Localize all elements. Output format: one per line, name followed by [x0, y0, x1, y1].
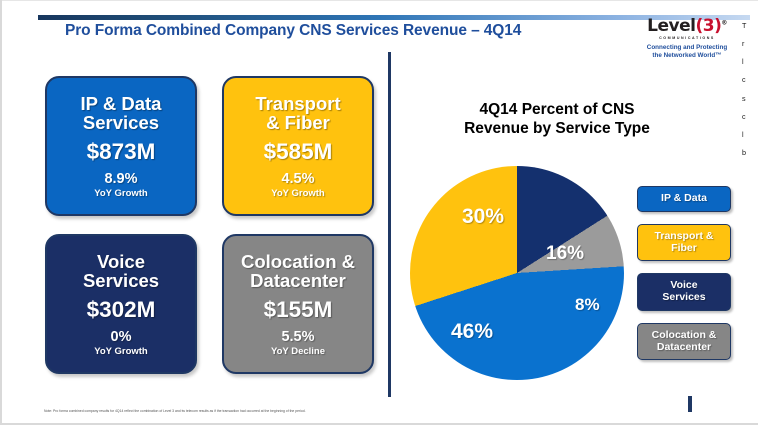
adjacent-page-text-column: T r l c s c l b [742, 20, 758, 165]
logo-subtitle: COMMUNICATIONS [641, 36, 733, 40]
pie-slice-label-transport-fiber: 30% [462, 205, 504, 229]
kpi-name-line1: Colocation & [241, 252, 355, 272]
kpi-note: YoY Growth [271, 189, 324, 199]
legend-label-line2: Fiber [641, 243, 727, 255]
legend-label-line1: IP & Data [641, 193, 727, 205]
logo-wordmark: Level(3)® [641, 18, 733, 35]
slide-canvas: Pro Forma Combined Company CNS Services … [0, 0, 758, 425]
pie-slice-label-voice: 16% [546, 243, 584, 265]
kpi-name-line2: Services [81, 113, 162, 133]
right-col-line-6: c [742, 111, 758, 122]
right-col-line-3: l [742, 56, 758, 67]
kpi-name: IP & Data Services [81, 94, 162, 133]
right-col-line-7: l [742, 129, 758, 140]
kpi-note: YoY Growth [94, 189, 147, 199]
kpi-name-line2: & Fiber [255, 113, 340, 133]
kpi-percent: 0% [111, 330, 132, 345]
legend-item-transport-fiber[interactable]: Transport & Fiber [637, 224, 731, 262]
pie-slice-label-ip-data: 46% [451, 320, 493, 344]
kpi-percent: 5.5% [281, 330, 314, 345]
pie-slice-label-colocation: 8% [575, 295, 600, 315]
vertical-divider [388, 52, 391, 397]
kpi-card-ip-data: IP & Data Services $873M 8.9% YoY Growth [45, 76, 197, 216]
right-col-line-8: b [742, 147, 758, 158]
page-title: Pro Forma Combined Company CNS Services … [65, 22, 585, 40]
legend-label-line2: Services [641, 292, 727, 304]
kpi-name-line2: Datacenter [241, 271, 355, 291]
kpi-name: Transport & Fiber [255, 94, 340, 133]
right-col-line-4: c [742, 74, 758, 85]
kpi-name-line1: Transport [255, 94, 340, 114]
logo-name-text: Level [647, 16, 695, 36]
kpi-card-colocation-datacenter: Colocation & Datacenter $155M 5.5% YoY D… [222, 234, 374, 374]
kpi-value: $155M [264, 299, 333, 322]
legend-label-line1: Colocation & [641, 330, 727, 342]
chart-legend: IP & Data Transport & Fiber Voice Servic… [637, 186, 731, 372]
page-border-left [0, 0, 2, 425]
chart-title-line2: Revenue by Service Type [412, 119, 702, 138]
kpi-card-transport-fiber: Transport & Fiber $585M 4.5% YoY Growth [222, 76, 374, 216]
footnote-text: Note: Pro forma combined company results… [44, 409, 734, 413]
logo-tagline-line1: Connecting and Protecting [641, 44, 733, 52]
kpi-percent: 4.5% [281, 172, 314, 187]
kpi-note: YoY Decline [271, 347, 325, 357]
page-border-top [0, 0, 758, 1]
kpi-name-line1: Voice [83, 252, 159, 272]
legend-item-colocation-datacenter[interactable]: Colocation & Datacenter [637, 323, 731, 361]
right-col-line-1: T [742, 20, 758, 31]
logo-tagline-line2: the Networked World™ [641, 52, 733, 60]
kpi-name-line1: IP & Data [81, 94, 162, 114]
kpi-value: $585M [264, 141, 333, 164]
kpi-card-voice-services: Voice Services $302M 0% YoY Growth [45, 234, 197, 374]
legend-label-line2: Datacenter [641, 342, 727, 354]
kpi-name-line2: Services [83, 271, 159, 291]
logo-registered-icon: ® [721, 19, 727, 26]
level3-logo: Level(3)® COMMUNICATIONS Connecting and … [641, 18, 733, 60]
logo-tagline: Connecting and Protecting the Networked … [641, 44, 733, 60]
kpi-note: YoY Growth [94, 347, 147, 357]
kpi-name: Voice Services [83, 252, 159, 291]
legend-label-line1: Transport & [641, 231, 727, 243]
kpi-value: $302M [87, 299, 156, 322]
legend-item-ip-data[interactable]: IP & Data [637, 186, 731, 212]
kpi-percent: 8.9% [104, 172, 137, 187]
right-col-line-2: r [742, 38, 758, 49]
kpi-name: Colocation & Datacenter [241, 252, 355, 291]
chart-title: 4Q14 Percent of CNS Revenue by Service T… [412, 100, 702, 139]
pie-chart [410, 166, 624, 380]
legend-item-voice-services[interactable]: Voice Services [637, 273, 731, 311]
logo-three-mark: (3) [695, 16, 721, 36]
chart-title-line1: 4Q14 Percent of CNS [412, 100, 702, 119]
kpi-value: $873M [87, 141, 156, 164]
right-col-line-5: s [742, 93, 758, 104]
